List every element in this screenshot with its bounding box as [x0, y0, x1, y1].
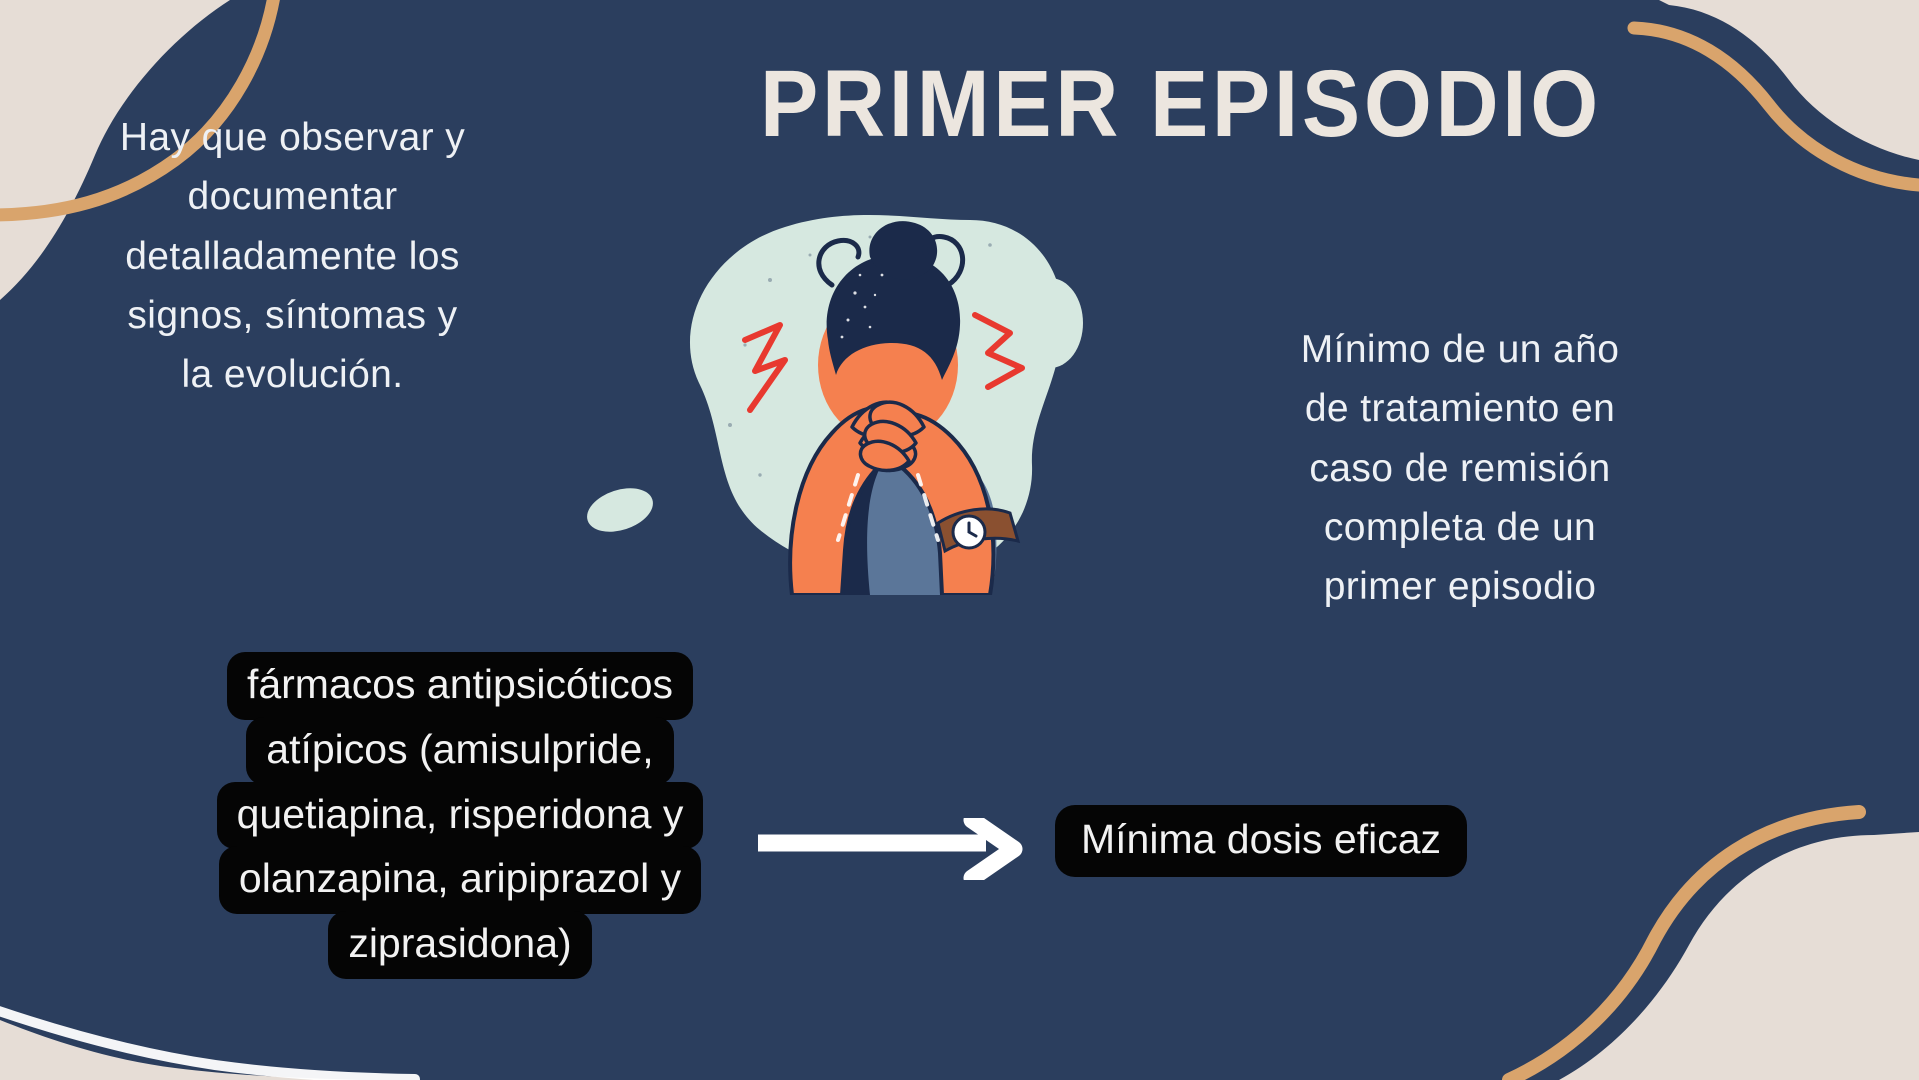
right-paragraph-line: Mínimo de un año	[1245, 320, 1675, 379]
left-paragraph-line: la evolución.	[55, 345, 530, 404]
stressed-person-illustration	[570, 175, 1090, 595]
drug-list-box: fármacos antipsicóticos atípicos (amisul…	[150, 655, 770, 979]
left-paragraph-line: Hay que observar y	[55, 108, 530, 167]
drug-list-line: fármacos antipsicóticos	[227, 652, 693, 720]
corner-decoration-bottom-right	[1359, 750, 1919, 1080]
right-paragraph-line: primer episodio	[1245, 557, 1675, 616]
right-paragraph-line: de tratamiento en	[1245, 379, 1675, 438]
page-title: PRIMER EPISODIO	[760, 55, 1772, 155]
slide-canvas: PRIMER EPISODIO Hay que observar y docum…	[0, 0, 1919, 1080]
drug-list-line: olanzapina, aripiprazol y	[219, 846, 701, 914]
left-paragraph: Hay que observar y documentar detalladam…	[55, 108, 530, 404]
left-paragraph-line: signos, síntomas y	[55, 286, 530, 345]
minimum-dose-label: Mínima dosis eficaz	[1055, 805, 1467, 877]
right-paragraph: Mínimo de un año de tratamiento en caso …	[1245, 320, 1675, 616]
left-paragraph-line: detalladamente los	[55, 227, 530, 286]
right-paragraph-line: completa de un	[1245, 498, 1675, 557]
arrow-right-icon	[758, 818, 1043, 880]
right-paragraph-line: caso de remisión	[1245, 439, 1675, 498]
drug-list-line: ziprasidona)	[328, 911, 591, 979]
left-paragraph-line: documentar	[55, 167, 530, 226]
drug-list-line: quetiapina, risperidona y	[217, 782, 704, 850]
drug-list-line: atípicos (amisulpride,	[246, 717, 673, 785]
minimum-dose-box: Mínima dosis eficaz	[1055, 808, 1467, 877]
